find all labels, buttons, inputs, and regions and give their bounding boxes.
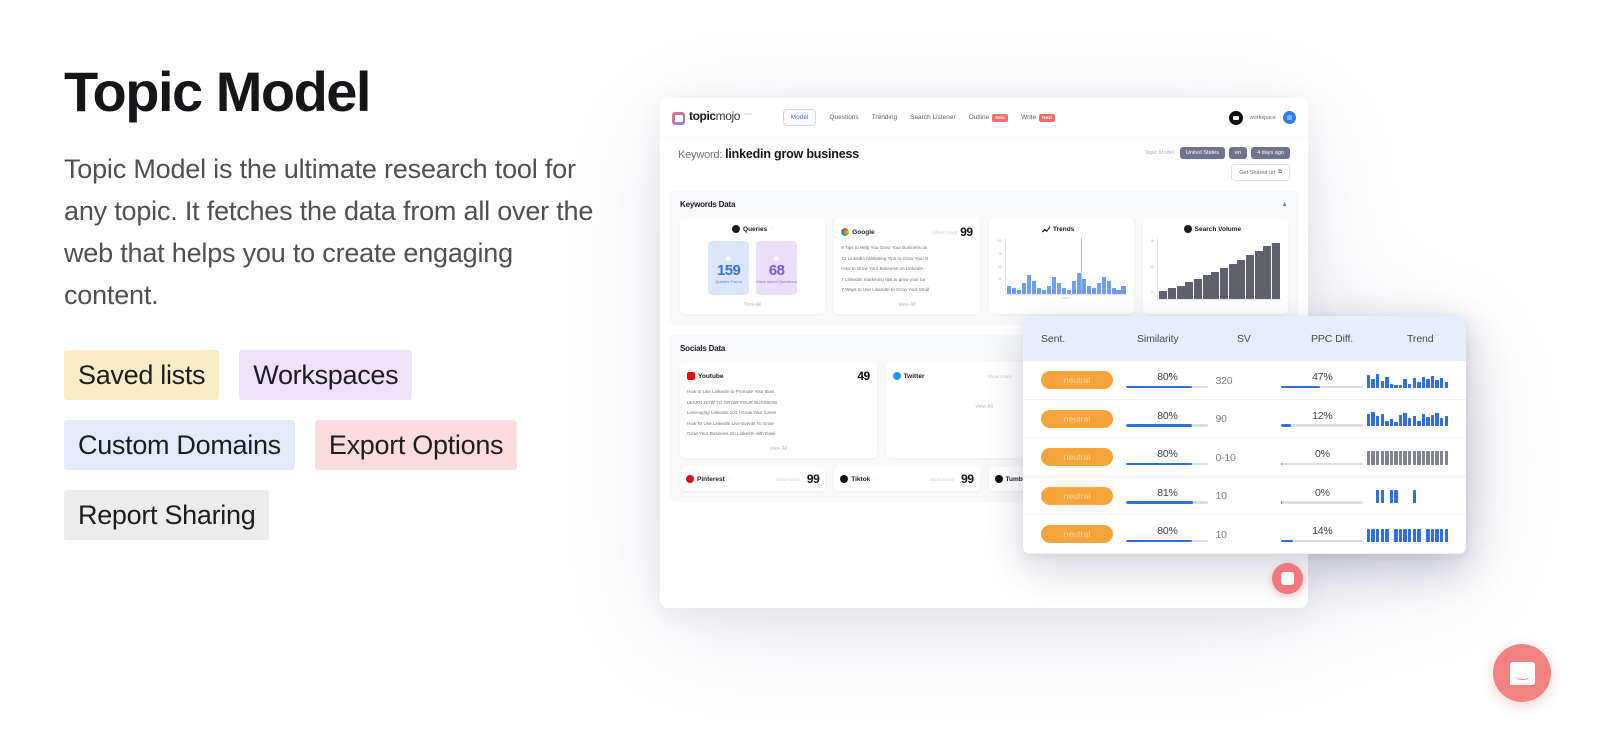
keywords-section-header: Keywords Data ▲ — [680, 200, 1288, 209]
ppc-value: 47% — [1281, 371, 1363, 383]
nav-item-trending[interactable]: Trending — [872, 114, 897, 121]
logo-text: topicmojo — [689, 110, 740, 123]
similarity-value: 80% — [1126, 448, 1208, 460]
social-card-header: Tiktok◌Show Count99 — [840, 472, 973, 486]
list-item[interactable]: LEARN HOW TO GROW YOUR BUSINESS — [687, 400, 870, 406]
search-volume-card-header: Search Volume ◌ — [1150, 225, 1281, 233]
sparkline-bar — [1367, 375, 1370, 388]
google-card: Google ◌ Show Count 99 8 Tips to Help Yo… — [834, 218, 979, 314]
axis-tick-label: 50 — [998, 265, 1002, 269]
sparkline-bar — [1385, 377, 1388, 388]
google-card-title: Google — [852, 229, 874, 236]
chart-bar — [1007, 286, 1011, 295]
sparkline-bar — [1371, 451, 1374, 465]
stat-value: 159 — [717, 263, 740, 278]
feature-chip-saved-lists[interactable]: Saved lists — [64, 350, 219, 400]
sv-value: 10 — [1215, 529, 1226, 541]
sparkline-bar — [1371, 529, 1374, 542]
queries-card-title: Queries — [743, 226, 767, 233]
google-icon — [841, 228, 849, 236]
chart-bar — [1116, 290, 1120, 294]
chip-row-1: Saved lists Workspaces — [64, 350, 584, 400]
chart-bar — [1112, 288, 1116, 294]
sparkline-bar — [1413, 378, 1416, 388]
ppc-progress-bar — [1281, 386, 1363, 389]
trend-sparkline — [1367, 487, 1448, 503]
sparkline-bar — [1440, 529, 1443, 542]
chart-bar — [1032, 281, 1036, 294]
sparkline-bar — [1426, 379, 1429, 388]
chart-bar — [1229, 264, 1237, 299]
list-item[interactable]: 8 Tips to Help You Grow Your Business on — [841, 245, 972, 251]
google-view-all[interactable]: View All — [841, 297, 972, 308]
sparkline-bar — [1367, 414, 1370, 426]
column-header-sv[interactable]: SV — [1237, 333, 1311, 345]
sparkline-bar — [1399, 529, 1402, 542]
google-card-count: 99 — [960, 225, 972, 239]
keyword-prefix: Keyword: — [678, 149, 722, 161]
sparkline-bar — [1381, 529, 1384, 542]
similarity-value: 80% — [1126, 371, 1208, 383]
sparkline-bar — [1413, 451, 1416, 465]
similarity-progress-bar — [1126, 463, 1208, 466]
sparkline-bar — [1431, 415, 1434, 426]
socials-section-title: Socials Data — [680, 344, 725, 353]
feature-chip-list: Saved lists Workspaces Custom Domains Ex… — [64, 350, 584, 540]
column-header-trend[interactable]: Trend — [1407, 333, 1448, 345]
social-card-title: Youtube — [698, 373, 724, 380]
get-shared-url-button[interactable]: Get Shared url ⧉ — [1231, 164, 1290, 181]
trend-sparkline — [1367, 372, 1448, 388]
table-row[interactable]: neutral81%100% — [1023, 477, 1466, 516]
sparkline-bar — [1376, 416, 1379, 426]
sparkline-bar — [1381, 381, 1384, 388]
keyword-metrics-table: Sent. Similarity SV PPC Diff. Trend neut… — [1023, 316, 1466, 554]
chart-bar — [1097, 283, 1101, 294]
sparkline-bar — [1431, 376, 1434, 388]
list-item[interactable]: 7 Ways to Use LinkedIn to Grow Your Smal — [841, 287, 972, 293]
sparkline-bar — [1413, 529, 1416, 542]
cell-sentiment: neutral — [1041, 409, 1126, 428]
stat-value: 68 — [769, 263, 785, 278]
google-card-header: Google ◌ Show Count 99 — [841, 225, 972, 239]
column-header-similarity[interactable]: Similarity — [1137, 333, 1237, 345]
cell-ppc: 12% — [1281, 410, 1366, 427]
queries-view-all[interactable]: View All — [687, 297, 818, 308]
chart-bar — [1082, 279, 1086, 294]
similarity-progress-bar — [1126, 540, 1208, 543]
page-title: Topic Model — [64, 62, 624, 122]
chart-marker-line — [1081, 238, 1082, 294]
chart-bar — [1067, 290, 1071, 294]
sparkline-bar — [1417, 382, 1420, 388]
sparkline-bar — [1413, 416, 1416, 426]
chart-bar — [1237, 260, 1245, 299]
cell-sv: 0-10 — [1215, 448, 1281, 466]
chart-bar — [1012, 288, 1016, 294]
table-row[interactable]: neutral80%9012% — [1023, 400, 1466, 439]
cell-ppc: 47% — [1281, 371, 1366, 388]
search-volume-chart: 806040 — [1150, 238, 1281, 300]
list-item[interactable]: How To Use LinkedIn Live Events To Grow — [687, 421, 870, 427]
sparkline-bar — [1422, 451, 1425, 465]
cell-sv: 90 — [1215, 409, 1281, 427]
pill-country[interactable]: United States — [1180, 147, 1225, 159]
chip-row-3: Report Sharing — [64, 490, 584, 540]
sparkline-bar — [1381, 490, 1384, 503]
sparkline-bar — [1390, 490, 1393, 503]
sparkline-bar — [1385, 421, 1388, 426]
meta-label: Topic Model — [1145, 150, 1174, 156]
header-right-group: workspace — [1229, 111, 1296, 125]
google-card-sub: Show Count — [933, 230, 958, 235]
sparkline-bar — [1399, 385, 1402, 388]
sentiment-badge: neutral — [1041, 448, 1113, 466]
chart-bar — [1211, 272, 1219, 299]
nav-item-label: Search Listener — [910, 114, 956, 121]
info-icon[interactable]: ◌ — [727, 373, 730, 379]
meta-pill-row: Topic Model United States en 4 days ago — [1145, 147, 1290, 159]
list-item[interactable]: How to Grow Your Business on LinkedIn - — [841, 266, 972, 272]
sparkline-bar — [1445, 382, 1448, 388]
pill-updated[interactable]: 4 days ago — [1251, 147, 1290, 159]
sentiment-badge: neutral — [1041, 525, 1113, 543]
tumblr-icon — [995, 475, 1003, 483]
sparkline-bar — [1422, 377, 1425, 388]
feature-chip-report-sharing[interactable]: Report Sharing — [64, 490, 269, 540]
nav-item-label: Model — [791, 114, 809, 121]
list-item[interactable]: Grow Your Business On LinkedIn with Ease — [687, 431, 870, 437]
stat-have-asked-questions: 68 Have asked Questions — [756, 241, 797, 295]
ppc-value: 14% — [1281, 525, 1363, 537]
cell-trend — [1367, 487, 1448, 503]
social-card-tiktok: Tiktok◌Show Count99 — [834, 467, 979, 491]
info-icon[interactable]: ◌ — [873, 476, 876, 482]
landing-page-section: Topic Model Topic Model is the ultimate … — [0, 0, 1600, 753]
keyword-meta: Topic Model United States en 4 days ago … — [1145, 147, 1290, 181]
info-icon[interactable]: ◌ — [1244, 226, 1247, 232]
feature-chip-export-options[interactable]: Export Options — [315, 420, 517, 470]
cell-sv: 10 — [1215, 525, 1281, 543]
sparkline-bar — [1399, 451, 1402, 465]
sv-value: 90 — [1215, 413, 1226, 425]
sparkline-bar — [1376, 529, 1379, 542]
google-result-list: 8 Tips to Help You Grow Your Business on… — [841, 245, 972, 293]
chart-bar — [1017, 290, 1021, 294]
nav-item-search-listener[interactable]: Search Listener — [910, 114, 956, 121]
similarity-progress-fill — [1126, 424, 1192, 427]
sparkline-bar — [1390, 451, 1393, 465]
chart-bar — [1177, 286, 1185, 299]
social-card-sub: Show Count — [988, 374, 1013, 379]
trend-sparkline — [1367, 449, 1448, 465]
column-header-sent[interactable]: Sent. — [1041, 333, 1137, 345]
ppc-progress-bar — [1281, 463, 1363, 466]
chart-bar — [1057, 283, 1061, 294]
chart-bar — [1203, 275, 1211, 299]
youtube-icon — [687, 372, 695, 380]
social-card-title: Pinterest — [697, 476, 725, 483]
chart-bar — [1121, 286, 1125, 295]
chart-bar — [1185, 282, 1193, 299]
social-card-sub: Show Count — [930, 477, 955, 482]
trend-sparkline — [1367, 526, 1448, 542]
sv-value: 320 — [1215, 375, 1232, 387]
similarity-progress-bar — [1126, 424, 1208, 427]
stat-icon — [726, 256, 731, 261]
hero-text-column: Topic Model Topic Model is the ultimate … — [64, 62, 624, 540]
sparkline-bar — [1403, 451, 1406, 465]
ppc-progress-bar — [1281, 424, 1363, 427]
app-header: topicmojo data ModelQuestionsTrendingSea… — [660, 98, 1308, 138]
social-card-count: 49 — [857, 369, 869, 383]
keyword-line: Keyword: linkedin grow business — [678, 147, 859, 161]
sparkline-bar — [1367, 529, 1370, 542]
chart-bar — [1272, 243, 1280, 299]
cell-trend — [1367, 526, 1448, 542]
sparkline-bar — [1417, 529, 1420, 542]
workspace-label: workspace — [1250, 115, 1276, 121]
chart-bar — [1263, 246, 1271, 299]
chart-bar — [1062, 288, 1066, 294]
sparkline-bar — [1408, 529, 1411, 542]
info-icon[interactable]: ◌ — [878, 229, 881, 235]
search-volume-card-title: Search Volume — [1195, 226, 1241, 233]
ppc-progress-fill — [1281, 501, 1282, 504]
similarity-progress-bar — [1126, 386, 1208, 389]
sparkline-bar — [1371, 412, 1374, 426]
sparkline-bar — [1371, 379, 1374, 388]
trends-card-header: Trends ◌ — [996, 225, 1127, 233]
cell-sentiment: neutral — [1041, 486, 1126, 505]
column-header-ppc-diff[interactable]: PPC Diff. — [1311, 333, 1407, 345]
sparkline-bar — [1435, 451, 1438, 465]
queries-card-header: Queries ◌ — [687, 225, 818, 233]
queries-stat-row: 159 Queries Found 68 Have asked Question… — [687, 241, 818, 295]
sparkline-bar — [1435, 529, 1438, 542]
nav-new-badge: New — [992, 114, 1008, 122]
sv-value: 10 — [1215, 490, 1226, 502]
twitter-icon — [893, 372, 901, 380]
sparkline-bar — [1408, 384, 1411, 388]
nav-item-label: Outline — [969, 114, 990, 121]
chart-bar — [1107, 281, 1111, 294]
user-avatar[interactable] — [1283, 111, 1296, 124]
similarity-progress-fill — [1126, 540, 1192, 543]
social-result-list: How to Use LinkedIn to Promote Your Busi… — [687, 389, 870, 437]
cell-similarity: 80% — [1126, 410, 1215, 427]
hero-description: Topic Model is the ultimate research too… — [64, 148, 604, 316]
sparkline-bar — [1403, 413, 1406, 426]
social-card-count: 99 — [961, 472, 973, 486]
cell-sentiment: neutral — [1041, 524, 1126, 543]
chart-bar — [1087, 286, 1091, 295]
table-row[interactable]: neutral80%32047% — [1023, 361, 1466, 400]
info-icon[interactable]: ◌ — [728, 476, 731, 482]
topicmojo-logo-icon — [672, 112, 685, 125]
list-item[interactable]: 12 LinkedIn Marketing Tips to Grow Your … — [841, 256, 972, 262]
sparkline-bar — [1385, 529, 1388, 542]
cell-sv: 320 — [1215, 371, 1281, 389]
sparkline-bar — [1381, 451, 1384, 465]
keywords-data-section: Keywords Data ▲ Queries ◌ — [670, 191, 1298, 325]
cell-trend — [1367, 449, 1448, 465]
table-body: neutral80%32047%neutral80%9012%neutral80… — [1023, 361, 1466, 554]
feature-chip-custom-domains[interactable]: Custom Domains — [64, 420, 295, 470]
sparkline-bar — [1440, 451, 1443, 465]
ppc-progress-fill — [1281, 463, 1282, 466]
similarity-value: 81% — [1126, 487, 1208, 499]
social-card-count: 99 — [807, 472, 819, 486]
queries-icon — [732, 225, 740, 233]
nav-new-badge: New — [1039, 114, 1055, 122]
info-icon[interactable]: ◌ — [1077, 226, 1080, 232]
cell-similarity: 81% — [1126, 487, 1215, 504]
sparkline-bar — [1440, 378, 1443, 388]
similarity-progress-fill — [1126, 463, 1192, 466]
chart-bar — [1255, 251, 1263, 299]
ppc-value: 0% — [1281, 448, 1363, 460]
chart-bar — [1194, 279, 1202, 299]
app-logo[interactable]: topicmojo data — [672, 110, 753, 125]
share-button-label: Get Shared url — [1239, 170, 1275, 176]
cell-ppc: 0% — [1281, 487, 1366, 504]
stat-queries-found: 159 Queries Found — [708, 241, 749, 295]
social-card-pinterest: Pinterest◌Show Count99 — [680, 467, 825, 491]
social-card-title: Twitter — [904, 373, 925, 380]
trends-chart: 1007550250 DATE — [996, 238, 1127, 300]
cell-similarity: 80% — [1126, 448, 1215, 465]
sparkline-bar — [1408, 451, 1411, 465]
sparkline-bar — [1376, 490, 1379, 503]
ppc-progress-bar — [1281, 540, 1363, 543]
cell-similarity: 80% — [1126, 371, 1215, 388]
sparkline-bar — [1403, 529, 1406, 542]
nav-item-outline[interactable]: OutlineNew — [969, 114, 1008, 122]
chart-bar — [1047, 286, 1051, 295]
info-icon[interactable]: ◌ — [770, 226, 773, 232]
search-volume-card: Search Volume ◌ 806040 — [1143, 218, 1288, 314]
sparkline-bar — [1417, 421, 1420, 426]
nav-item-label: Write — [1021, 114, 1036, 121]
chart-bar — [1168, 288, 1176, 299]
table-row[interactable]: neutral80%1014% — [1023, 515, 1466, 554]
similarity-progress-fill — [1126, 501, 1192, 504]
social-view-all[interactable]: View All — [687, 441, 870, 452]
nav-item-questions[interactable]: Questions — [829, 114, 858, 121]
nav-item-model[interactable]: Model — [783, 109, 817, 126]
social-card-header: Youtube◌49 — [687, 369, 870, 383]
workspace-avatar[interactable] — [1229, 111, 1243, 125]
sentiment-badge: neutral — [1041, 410, 1113, 428]
stat-icon — [774, 256, 779, 261]
axis-tick-label: 25 — [998, 277, 1002, 281]
chevron-up-icon[interactable]: ▲ — [1281, 201, 1288, 208]
nav-item-write[interactable]: WriteNew — [1021, 114, 1055, 122]
feature-chip-workspaces[interactable]: Workspaces — [239, 350, 412, 400]
sparkline-bar — [1435, 413, 1438, 426]
chat-bubble-icon[interactable] — [1493, 644, 1551, 702]
cell-ppc: 14% — [1281, 525, 1366, 542]
chart-bar — [1072, 281, 1076, 294]
list-item[interactable]: Leveraging LinkedIn 101 | Grow Your Care… — [687, 410, 870, 416]
chart-bar — [1092, 288, 1096, 294]
axis-tick-label: 40 — [1151, 290, 1155, 294]
trends-card-title: Trends — [1053, 226, 1074, 233]
similarity-value: 80% — [1126, 410, 1208, 422]
list-item[interactable]: 7 LinkedIn marketing tips to grow your b… — [841, 277, 972, 283]
ppc-progress-fill — [1281, 540, 1292, 543]
sparkline-bar — [1431, 451, 1434, 465]
chart-bar — [1102, 277, 1106, 294]
chat-bubble-glyph — [1510, 662, 1535, 685]
keyword-value: linkedin grow business — [725, 147, 859, 161]
sparkline-bar — [1390, 419, 1393, 426]
cell-trend — [1367, 372, 1448, 388]
tiktok-icon — [840, 475, 848, 483]
nav-item-label: Questions — [829, 114, 858, 121]
sparkline-bar — [1426, 451, 1429, 465]
ppc-progress-bar — [1281, 501, 1363, 504]
table-header-row: Sent. Similarity SV PPC Diff. Trend — [1023, 316, 1466, 361]
social-card-sub: Show Count — [775, 477, 800, 482]
stop-record-icon[interactable] — [1272, 563, 1303, 594]
axis-tick-label: 75 — [998, 252, 1002, 256]
social-card-title: Tiktok — [851, 476, 870, 483]
cell-similarity: 80% — [1126, 525, 1215, 542]
sparkline-bar — [1426, 417, 1429, 426]
axis-tick-label: 100 — [997, 239, 1002, 243]
sparkline-bar — [1385, 451, 1388, 465]
keyword-bar: Keyword: linkedin grow business Topic Mo… — [660, 138, 1308, 181]
sentiment-badge: neutral — [1041, 371, 1113, 389]
sparkline-bar — [1399, 415, 1402, 426]
app-navigation: ModelQuestionsTrendingSearch ListenerOut… — [783, 109, 1055, 126]
sparkline-bar — [1390, 384, 1393, 388]
logo-superscript: data — [744, 111, 753, 116]
similarity-progress-bar — [1126, 501, 1208, 504]
info-icon[interactable]: ◌ — [928, 373, 931, 379]
sparkline-bar — [1394, 451, 1397, 465]
sparkline-bar — [1435, 380, 1438, 388]
list-item[interactable]: How to Use LinkedIn to Promote Your Busi — [687, 389, 870, 395]
sparkline-bar — [1426, 529, 1429, 542]
chip-row-2: Custom Domains Export Options — [64, 420, 584, 470]
axis-tick-label: 0 — [1000, 290, 1002, 294]
ppc-progress-fill — [1281, 386, 1320, 389]
trends-card: Trends ◌ 1007550250 DATE — [989, 218, 1134, 314]
sparkline-bar — [1394, 422, 1397, 426]
queries-card: Queries ◌ 159 Queries Found 68 — [680, 218, 825, 314]
trends-y-axis: 1007550250 — [997, 238, 1002, 300]
sparkline-bar — [1394, 385, 1397, 388]
sparkline-bar — [1413, 490, 1416, 503]
trends-plot-area — [1005, 238, 1127, 295]
sparkline-bar — [1431, 529, 1434, 542]
ppc-progress-fill — [1281, 424, 1291, 427]
trends-x-label: DATE — [1005, 296, 1127, 300]
sparkline-bar — [1445, 416, 1448, 426]
table-row[interactable]: neutral80%0-100% — [1023, 438, 1466, 477]
sparkline-bar — [1376, 451, 1379, 465]
sparkline-bar — [1445, 451, 1448, 465]
sparkline-bar — [1367, 451, 1370, 465]
social-card-youtube: Youtube◌49How to Use LinkedIn to Promote… — [680, 362, 877, 458]
chart-bar — [1022, 283, 1026, 294]
pill-language[interactable]: en — [1229, 147, 1247, 159]
sparkline-bar — [1440, 418, 1443, 426]
similarity-value: 80% — [1126, 525, 1208, 537]
